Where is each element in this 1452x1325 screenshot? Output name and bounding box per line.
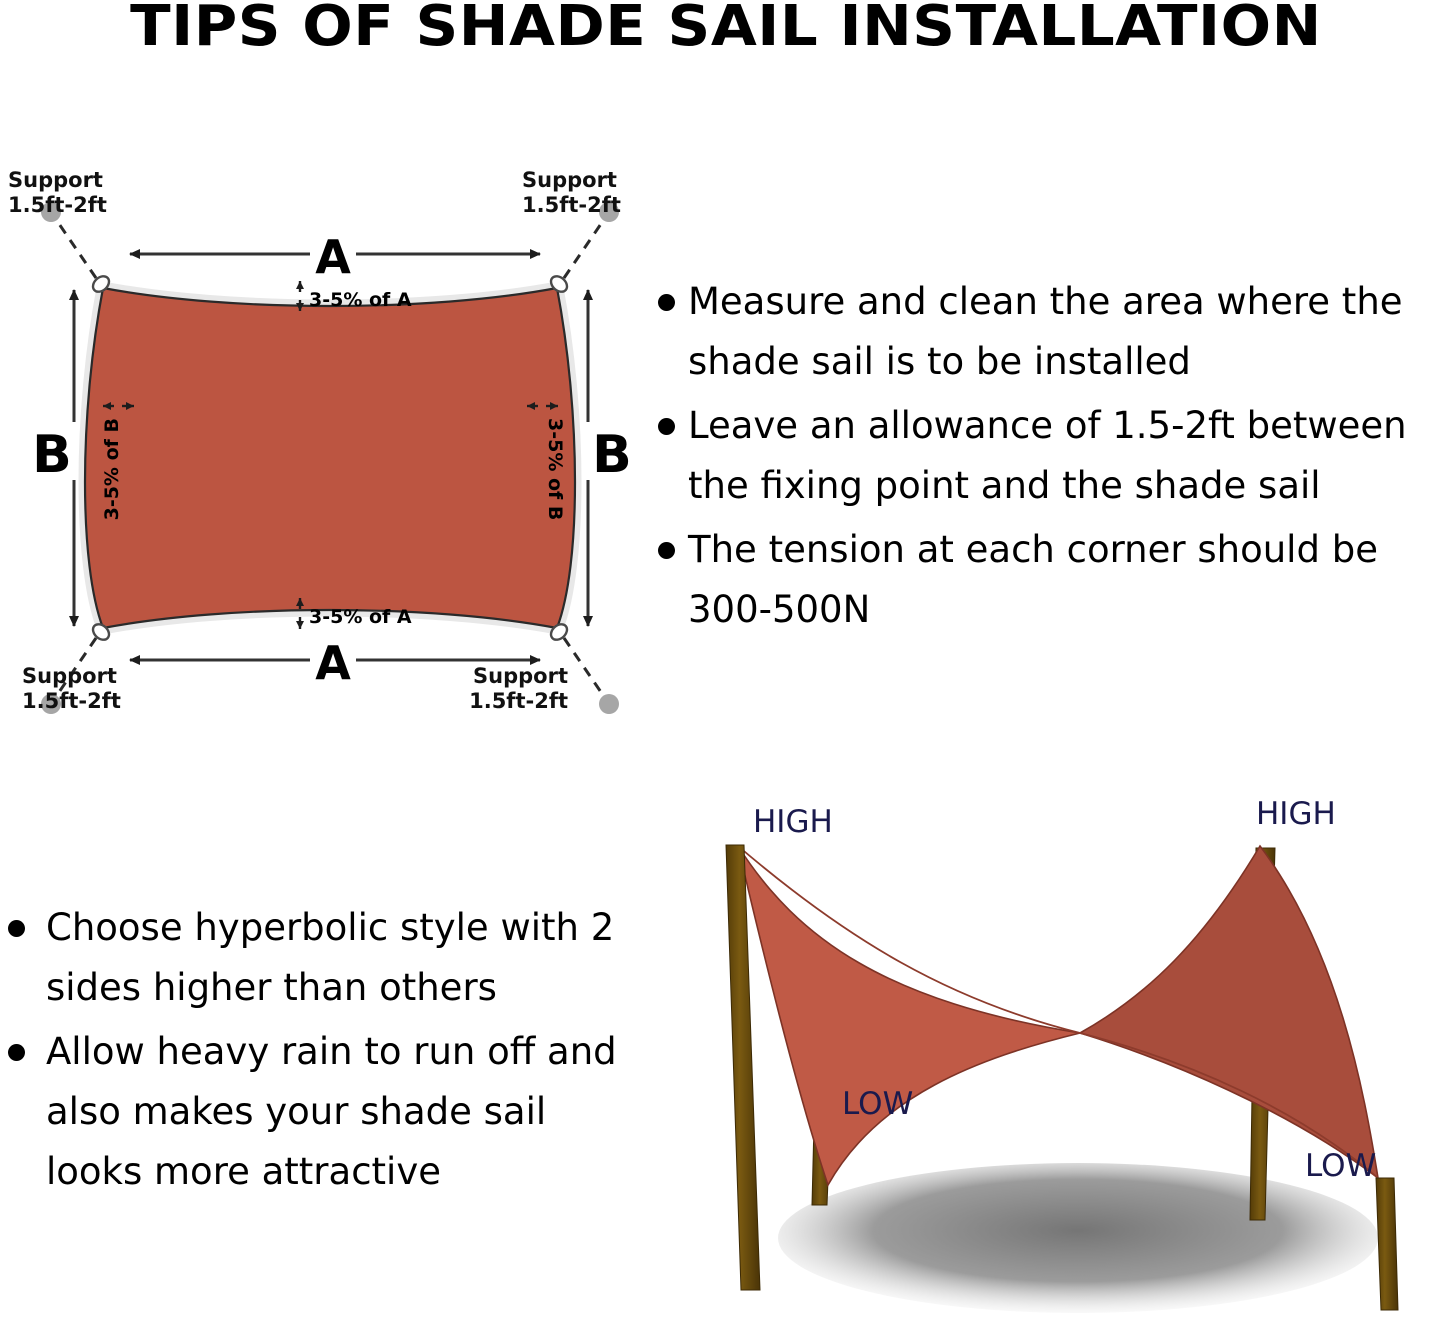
dimension-label-a-bottom: A [315, 636, 351, 690]
support-label-br-line2: 1.5ft-2ft [469, 689, 568, 713]
bullet-icon [8, 1044, 25, 1061]
support-label-tl-line2: 1.5ft-2ft [8, 193, 107, 217]
hyperbolic-tips-list: Choose hyperbolic style with 2 sides hig… [0, 898, 626, 1206]
sail-panel-front [738, 846, 1080, 1185]
label-low-left: LOW [842, 1086, 913, 1122]
bullet-icon [8, 920, 25, 937]
curve-callout-right-label: 3-5% of B [544, 418, 566, 520]
installation-tips-list: Measure and clean the area where the sha… [652, 272, 1452, 644]
list-item: Measure and clean the area where the sha… [652, 272, 1452, 392]
dimension-label-b-right: B [592, 425, 632, 485]
bullet-icon [658, 542, 675, 559]
label-low-right: LOW [1305, 1148, 1376, 1184]
list-item: Allow heavy rain to run off and also mak… [0, 1022, 626, 1202]
tip-text: The tension at each corner should be 300… [688, 520, 1452, 640]
bullet-icon [658, 418, 675, 435]
post-low-right [1376, 1178, 1398, 1310]
tip-text: Leave an allowance of 1.5-2ft between th… [688, 396, 1452, 516]
list-item: Choose hyperbolic style with 2 sides hig… [0, 898, 626, 1018]
support-label-br-line1: Support [473, 664, 568, 688]
curve-callout-top-label: 3-5% of A [309, 289, 412, 311]
support-label-tr-line2: 1.5ft-2ft [522, 193, 621, 217]
shade-sail-fabric [85, 288, 575, 628]
tip-text: Measure and clean the area where the sha… [688, 272, 1452, 392]
list-item: Leave an allowance of 1.5-2ft between th… [652, 396, 1452, 516]
label-high-left: HIGH [753, 804, 833, 840]
support-label-tl-line1: Support [8, 168, 103, 192]
infographic-page: TIPS OF SHADE SAIL INSTALLATION [0, 0, 1452, 1325]
tip-text: Allow heavy rain to run off and also mak… [46, 1022, 626, 1202]
support-label-bl-line1: Support [22, 664, 117, 688]
tip-text: Choose hyperbolic style with 2 sides hig… [46, 898, 626, 1018]
support-label-bl-line2: 1.5ft-2ft [22, 689, 121, 713]
curve-callout-bottom-label: 3-5% of A [309, 606, 412, 628]
label-high-right: HIGH [1256, 796, 1336, 832]
curve-callout-left-label: 3-5% of B [101, 418, 123, 520]
bullet-icon [658, 294, 675, 311]
dimension-label-b-left: B [32, 425, 72, 485]
dimension-label-a-top: A [315, 230, 351, 284]
hyperbolic-sail-diagram: HIGH HIGH LOW LOW [648, 790, 1452, 1325]
sail-panel-back [1080, 846, 1378, 1178]
ground-shadow [778, 1163, 1378, 1313]
rectangular-sail-diagram: Support 1.5ft-2ft Support 1.5ft-2ft Supp… [0, 160, 660, 740]
page-title: TIPS OF SHADE SAIL INSTALLATION [0, 0, 1452, 57]
list-item: The tension at each corner should be 300… [652, 520, 1452, 640]
support-label-tr-line1: Support [522, 168, 617, 192]
